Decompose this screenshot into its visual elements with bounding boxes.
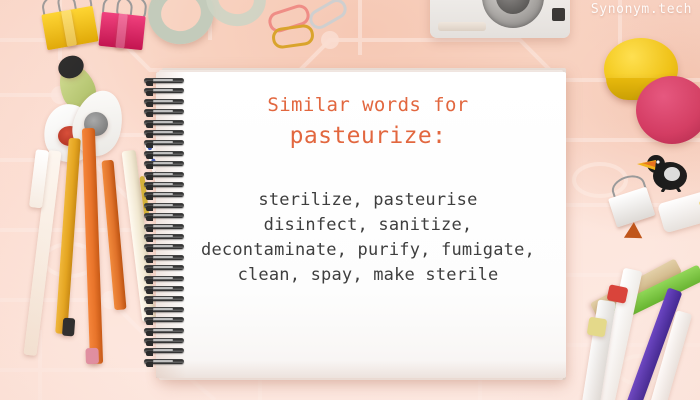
spiral-ring-tail [146,195,153,200]
spiral-ring-tail [146,237,153,242]
spiral-ring-tail [146,185,153,190]
spiral-ring-tail [146,143,153,148]
spiral-ring-tail [146,206,153,211]
spiral-ring-tail [146,320,153,325]
note-title: Similar words for [186,92,550,118]
spiral-ring-tail [146,279,153,284]
synonym-line: clean, spay, make sterile [186,263,550,288]
desk-scene: Similar words for pasteurize: sterilize,… [0,0,700,400]
spiral-ring-tail [146,341,153,346]
spiral-ring-tail [146,258,153,263]
spiral-ring-tail [146,299,153,304]
spiral-ring-tail [146,227,153,232]
synonym-list: sterilize, pasteurise disinfect, sanitiz… [186,188,550,288]
spiral-ring-tail [146,331,153,336]
marker-silver-band [587,317,608,338]
spiral-ring-tail [146,81,153,86]
page-shading-bottom [156,360,566,378]
spiral-ring-tail [146,362,153,367]
pencil-orange-eraser [85,348,99,364]
spiral-ring-tail [146,268,153,273]
spiral-ring-tail [146,175,153,180]
spiral-ring-tail [146,154,153,159]
synonym-line: decontaminate, purify, fumigate, [186,238,550,263]
spiral-ring-tail [146,164,153,169]
binder-clip-yellow [40,0,100,56]
binder-clip-pink [98,8,146,56]
spiral-ring-tail [146,216,153,221]
watermark-logo: Synonym.tech [591,2,692,17]
pencil-yellow-ferrule [62,318,75,337]
spiral-ring-tail [146,310,153,315]
macaron-pink [636,76,700,144]
note-keyword: pasteurize: [186,120,550,152]
spiral-ring-tail [146,351,153,356]
spiral-ring-tail [146,289,153,294]
spiral-binding [144,78,188,374]
spiral-ring-tail [146,112,153,117]
note-content: Similar words for pasteurize: sterilize,… [186,92,550,288]
spiral-ring-tail [146,91,153,96]
camera-grip [438,22,486,31]
spiral-ring-tail [146,123,153,128]
spiral-ring-tail [146,102,153,107]
synonym-line: sterilize, pasteurise [186,188,550,213]
spiral-ring-tail [146,247,153,252]
camera-button [552,8,565,21]
spiral-ring-tail [146,133,153,138]
synonym-line: disinfect, sanitize, [186,213,550,238]
